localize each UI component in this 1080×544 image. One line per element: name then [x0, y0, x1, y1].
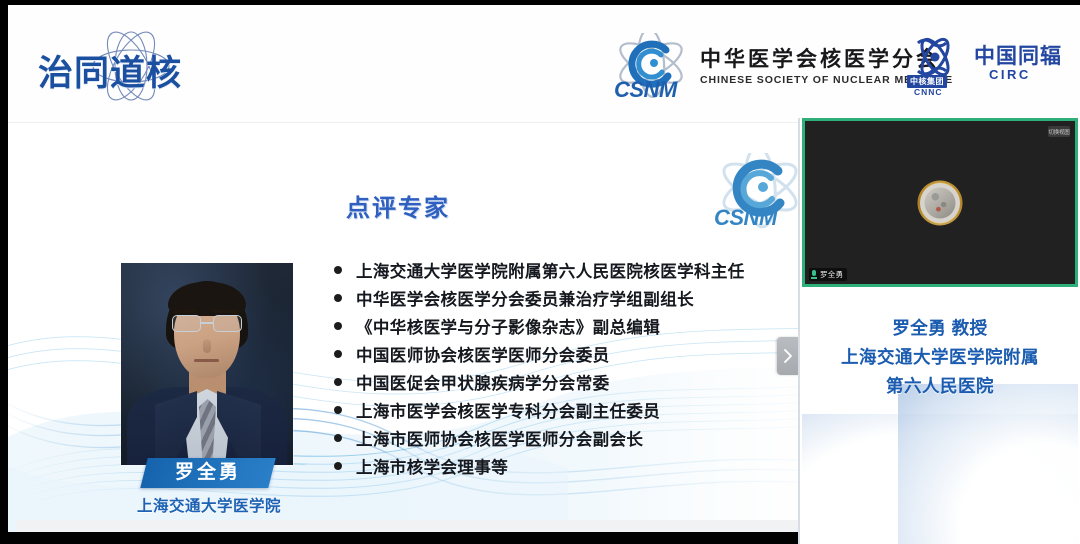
microphone-icon: [811, 270, 817, 279]
csnm-logo: CSNM 中华医学会核医学分会 CHINESE SOCIETY OF NUCLE…: [608, 33, 883, 101]
bullet-icon: [334, 266, 342, 274]
csnm-wordmark: CSNM: [614, 77, 677, 103]
list-item: 中国医师协会核医学医师分会委员: [334, 340, 786, 368]
credential-text: 上海市核学会理事等: [356, 454, 508, 478]
brand-logo: 治同道核: [38, 31, 238, 101]
video-sidebar: 切换视图 罗全勇 罗全勇 教授 上海交通大学医学院附属 第六人民医院: [800, 118, 1080, 544]
speaker-name-tag: 罗全勇: [809, 268, 847, 281]
bullet-icon: [334, 350, 342, 358]
page-title: 点评专家: [346, 188, 450, 223]
list-item: 上海市核学会理事等: [334, 452, 786, 480]
list-item: 上海市医学会核医学专科分会副主任委员: [334, 396, 786, 424]
avatar: [918, 180, 963, 225]
credential-text: 上海交通大学医学院附属第六人民医院核医学科主任: [356, 258, 745, 282]
list-item: 上海交通大学医学院附属第六人民医院核医学科主任: [334, 256, 786, 284]
bullet-icon: [334, 294, 342, 302]
cnnc-english-label: CNNC: [914, 87, 943, 97]
caption-line-3: 第六人民医院: [802, 372, 1078, 401]
list-item: 中国医促会甲状腺疾病学分会常委: [334, 368, 786, 396]
circ-chinese-label: 中国同辐: [974, 40, 1062, 70]
list-item: 中华医学会核医学分会委员兼治疗学组副组长: [334, 284, 786, 312]
speaker-caption-panel: 罗全勇 教授 上海交通大学医学院附属 第六人民医院: [802, 287, 1078, 544]
circ-english-label: CIRC: [989, 67, 1031, 82]
speaker-name-label: 罗全勇: [820, 269, 843, 280]
caption-glow-decoration-2: [898, 384, 1078, 544]
csnm-watermark-text: CSNM: [714, 205, 777, 231]
bullet-icon: [334, 322, 342, 330]
credential-text: 上海市医学会核医学专科分会副主任委员: [356, 398, 660, 422]
credentials-list: 上海交通大学医学院附属第六人民医院核医学科主任 中华医学会核医学分会委员兼治疗学…: [334, 256, 786, 480]
bullet-icon: [334, 462, 342, 470]
credential-text: 中国医促会甲状腺疾病学分会常委: [356, 370, 610, 394]
slide-bottom-strip: [16, 520, 806, 532]
bullet-icon: [334, 406, 342, 414]
list-item: 《中华核医学与分子影像杂志》副总编辑: [334, 312, 786, 340]
bullet-icon: [334, 434, 342, 442]
eyeglasses: [171, 315, 243, 332]
csnm-chinese-name: 中华医学会核医学分会: [700, 43, 940, 73]
caption-text: 罗全勇 教授 上海交通大学医学院附属 第六人民医院: [802, 314, 1078, 401]
screen: 治同道核 CSNM 中华: [0, 0, 1080, 544]
expert-portrait-photo: [121, 263, 293, 465]
credential-text: 上海市医师协会核医学医师分会副会长: [356, 426, 643, 450]
chevron-right-icon: [782, 348, 794, 364]
caption-line-2: 上海交通大学医学院附属: [802, 343, 1078, 372]
video-view-toggle-button[interactable]: 切换视图: [1048, 126, 1070, 137]
csnm-watermark-icon: CSNM: [708, 153, 812, 233]
expert-name: 罗全勇: [144, 458, 272, 488]
credential-text: 《中华核医学与分子影像杂志》副总编辑: [356, 314, 660, 338]
expert-affiliation-line-1: 上海交通大学医学院: [104, 494, 314, 516]
credential-text: 中国医师协会核医学医师分会委员: [356, 342, 610, 366]
panel-collapse-button[interactable]: [777, 337, 799, 375]
slide-logo-band: 治同道核 CSNM 中华: [8, 5, 1080, 123]
credential-text: 中华医学会核医学分会委员兼治疗学组副组长: [356, 286, 694, 310]
caption-line-1: 罗全勇 教授: [802, 314, 1078, 343]
list-item: 上海市医师协会核医学医师分会副会长: [334, 424, 786, 452]
circ-logo: 中核集团 CNNC 中国同辐 CIRC: [906, 35, 1066, 97]
expert-name-badge: 罗全勇: [140, 458, 275, 488]
video-view-toggle-label: 切换视图: [1048, 128, 1070, 136]
active-speaker-video-tile[interactable]: 切换视图 罗全勇: [802, 118, 1078, 287]
bullet-icon: [334, 378, 342, 386]
brand-logo-text: 治同道核: [38, 45, 238, 96]
